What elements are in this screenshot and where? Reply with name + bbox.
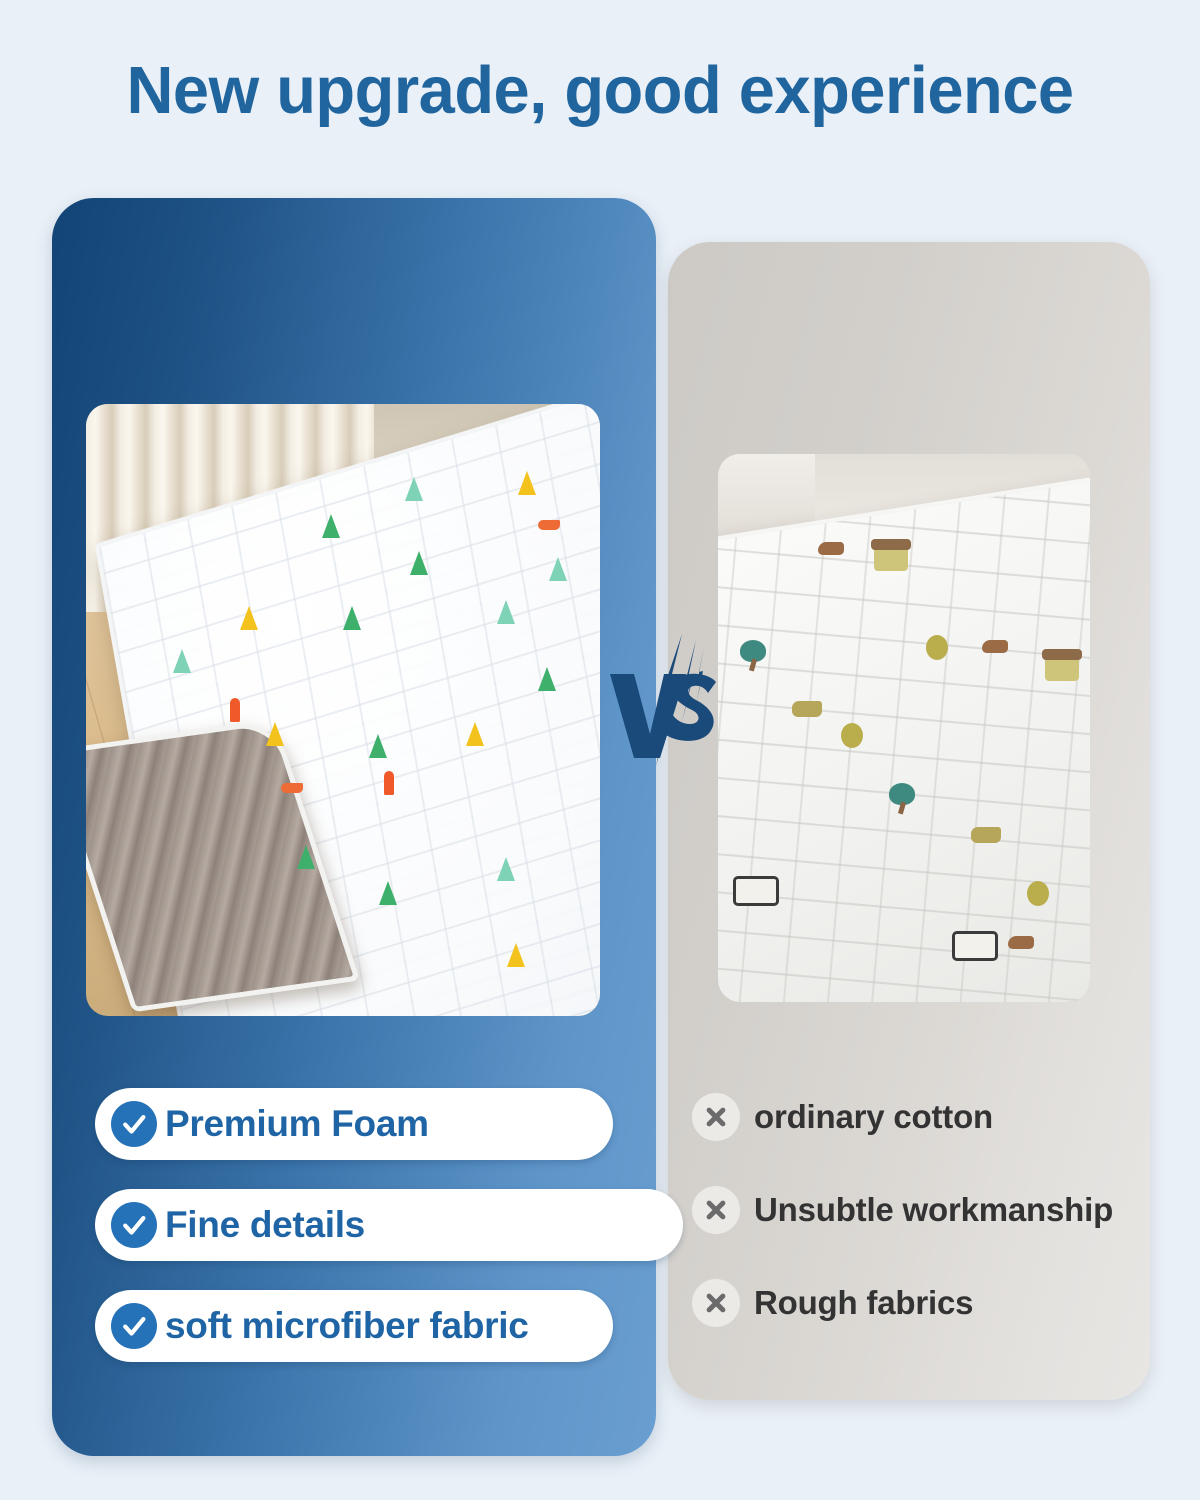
x-circle-icon [692,1186,740,1234]
motif-dull-teal-tree [889,783,915,805]
motif-green-tree [343,606,361,630]
motif-brown-dog [818,542,844,555]
others-drawback-row[interactable]: Rough fabrics [692,1277,973,1329]
motif-yellow-tree [518,471,536,495]
motif-green-tree [369,734,387,758]
page-title: New upgrade, good experience [18,52,1182,129]
others-drawback-label: ordinary cotton [754,1098,993,1136]
motif-olive-balloon [1027,881,1049,906]
ours-feature-pill[interactable]: Premium Foam [95,1088,613,1160]
motif-yellow-house [1045,657,1079,681]
x-circle-icon [692,1093,740,1141]
motif-yellow-tree [507,943,525,967]
motif-green-tree [379,881,397,905]
motif-yellow-tree [466,722,484,746]
motif-olive-balloon [841,723,863,748]
ours-feature-pill[interactable]: Fine details [95,1189,683,1261]
motif-brown-dog [982,640,1008,653]
others-product-photo [718,454,1090,1002]
ours-feature-label: Premium Foam [165,1103,429,1145]
motif-rocket [230,698,240,722]
check-circle-icon [111,1202,157,1248]
motif-yellow-tree [240,606,258,630]
motif-teal-tree [497,857,515,881]
motif-green-tree [322,514,340,538]
motif-teal-tree [497,600,515,624]
motif-green-tree [410,551,428,575]
motif-dull-teal-tree [740,640,766,662]
check-circle-icon [111,1303,157,1349]
motif-camera [952,931,998,961]
motif-teal-tree [173,649,191,673]
motif-orange-fox [538,520,560,530]
ours-feature-label: Fine details [165,1204,365,1246]
motif-yellow-tree [266,722,284,746]
ours-feature-pill[interactable]: soft microfiber fabric [95,1290,613,1362]
others-drawback-label: Unsubtle workmanship [754,1191,1113,1229]
ours-product-photo [86,404,600,1016]
motif-yellow-house [874,547,908,571]
motif-rocket [384,771,394,795]
motif-olive-balloon [926,635,948,660]
others-drawback-label: Rough fabrics [754,1284,973,1322]
motif-orange-fox [281,783,303,793]
motif-teal-tree [405,477,423,501]
motif-camera [733,876,779,906]
x-circle-icon [692,1279,740,1327]
others-drawback-row[interactable]: Unsubtle workmanship [692,1184,1113,1236]
motif-giraffe [971,827,1001,843]
motif-brown-dog [1008,936,1034,949]
ours-feature-label: soft microfiber fabric [165,1305,528,1347]
others-drawback-row[interactable]: ordinary cotton [692,1091,993,1143]
motif-green-tree [297,845,315,869]
motif-teal-tree [549,557,567,581]
check-circle-icon [111,1101,157,1147]
motif-giraffe [792,701,822,717]
motif-green-tree [538,667,556,691]
